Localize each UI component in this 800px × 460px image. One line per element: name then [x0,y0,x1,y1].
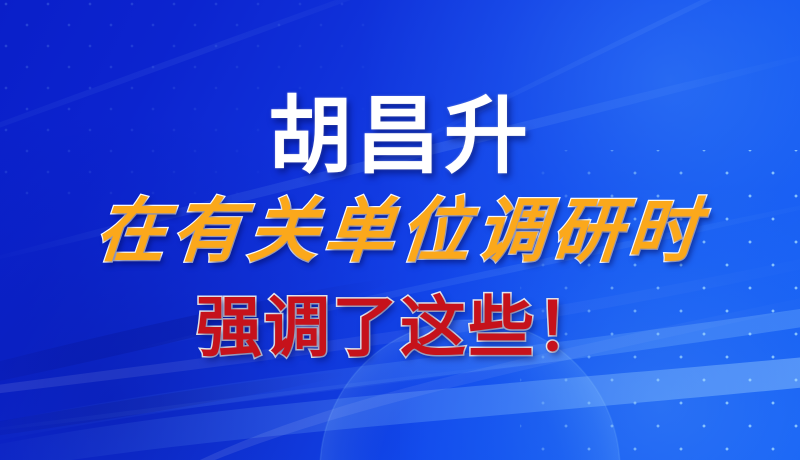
poster-banner: 胡昌升 在有关单位调研时 强调了这些！ [0,0,800,460]
headline-subtitle: 在有关单位调研时 [93,198,707,268]
headline-emphasis: 强调了这些！ [196,294,604,360]
headline-name: 胡昌升 [268,94,532,178]
poster-text-block: 胡昌升 在有关单位调研时 强调了这些！ [0,0,800,460]
